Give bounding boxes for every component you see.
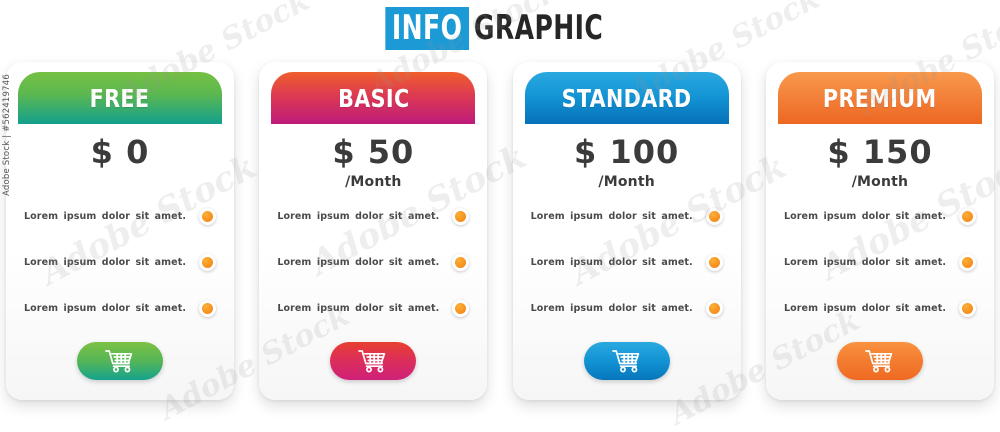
bullet-dot-icon bbox=[706, 300, 723, 317]
pricing-cards-row: FREE $ 0 /Month Lorem ipsum dolor sit am… bbox=[0, 62, 1000, 407]
feature-text: Lorem ipsum dolor sit amet. bbox=[531, 303, 693, 314]
price-block: $ 150 /Month bbox=[766, 136, 994, 190]
list-item: Lorem ipsum dolor sit amet. bbox=[24, 204, 216, 228]
feature-text: Lorem ipsum dolor sit amet. bbox=[784, 303, 946, 314]
feature-text: Lorem ipsum dolor sit amet. bbox=[784, 257, 946, 268]
plan-period: /Month bbox=[513, 174, 741, 190]
feature-list: Lorem ipsum dolor sit amet. Lorem ipsum … bbox=[259, 204, 487, 342]
plan-name: FREE bbox=[90, 84, 150, 113]
plan-price: $ 0 bbox=[6, 136, 234, 170]
bullet-dot-icon bbox=[199, 254, 216, 271]
list-item: Lorem ipsum dolor sit amet. bbox=[531, 204, 723, 228]
bullet-dot-icon bbox=[706, 208, 723, 225]
title-info-badge: INFO bbox=[386, 7, 470, 50]
bullet-dot-icon bbox=[199, 300, 216, 317]
list-item: Lorem ipsum dolor sit amet. bbox=[784, 204, 976, 228]
pricing-card-premium[interactable]: PREMIUM $ 150 /Month Lorem ipsum dolor s… bbox=[766, 62, 994, 400]
price-block: $ 50 /Month bbox=[259, 136, 487, 190]
card-header-basic: BASIC bbox=[271, 72, 475, 124]
title-graphic-text: GRAPHIC bbox=[469, 11, 603, 45]
shopping-cart-icon bbox=[356, 348, 390, 374]
plan-name: BASIC bbox=[338, 84, 409, 113]
list-item: Lorem ipsum dolor sit amet. bbox=[531, 250, 723, 274]
list-item: Lorem ipsum dolor sit amet. bbox=[784, 296, 976, 320]
price-block: $ 100 /Month bbox=[513, 136, 741, 190]
feature-text: Lorem ipsum dolor sit amet. bbox=[24, 303, 186, 314]
bullet-dot-icon bbox=[452, 208, 469, 225]
feature-list: Lorem ipsum dolor sit amet. Lorem ipsum … bbox=[766, 204, 994, 342]
feature-list: Lorem ipsum dolor sit amet. Lorem ipsum … bbox=[513, 204, 741, 342]
title-text: INFO GRAPHIC bbox=[367, 7, 633, 50]
pricing-card-standard[interactable]: STANDARD $ 100 /Month Lorem ipsum dolor … bbox=[513, 62, 741, 400]
cta-wrap bbox=[259, 342, 487, 400]
plan-price: $ 150 bbox=[766, 136, 994, 170]
page-title: INFO GRAPHIC bbox=[0, 0, 1000, 56]
list-item: Lorem ipsum dolor sit amet. bbox=[531, 296, 723, 320]
bullet-dot-icon bbox=[959, 208, 976, 225]
list-item: Lorem ipsum dolor sit amet. bbox=[277, 204, 469, 228]
list-item: Lorem ipsum dolor sit amet. bbox=[24, 296, 216, 320]
plan-name: STANDARD bbox=[562, 84, 692, 113]
price-block: $ 0 /Month bbox=[6, 136, 234, 190]
buy-button-standard[interactable] bbox=[584, 342, 670, 380]
bullet-dot-icon bbox=[452, 254, 469, 271]
bullet-dot-icon bbox=[199, 208, 216, 225]
feature-text: Lorem ipsum dolor sit amet. bbox=[277, 257, 439, 268]
cta-wrap bbox=[6, 342, 234, 400]
list-item: Lorem ipsum dolor sit amet. bbox=[277, 250, 469, 274]
bullet-dot-icon bbox=[452, 300, 469, 317]
plan-period: /Month bbox=[766, 174, 994, 190]
feature-text: Lorem ipsum dolor sit amet. bbox=[277, 211, 439, 222]
list-item: Lorem ipsum dolor sit amet. bbox=[784, 250, 976, 274]
shopping-cart-icon bbox=[610, 348, 644, 374]
feature-text: Lorem ipsum dolor sit amet. bbox=[24, 257, 186, 268]
card-header-free: FREE bbox=[18, 72, 222, 124]
cta-wrap bbox=[513, 342, 741, 400]
cta-wrap bbox=[766, 342, 994, 400]
plan-name: PREMIUM bbox=[823, 84, 937, 113]
feature-text: Lorem ipsum dolor sit amet. bbox=[277, 303, 439, 314]
card-header-standard: STANDARD bbox=[525, 72, 729, 124]
feature-text: Lorem ipsum dolor sit amet. bbox=[24, 211, 186, 222]
card-header-premium: PREMIUM bbox=[778, 72, 982, 124]
plan-price: $ 50 bbox=[259, 136, 487, 170]
plan-period: /Month bbox=[259, 174, 487, 190]
shopping-cart-icon bbox=[103, 348, 137, 374]
feature-text: Lorem ipsum dolor sit amet. bbox=[531, 257, 693, 268]
plan-price: $ 100 bbox=[513, 136, 741, 170]
buy-button-free[interactable] bbox=[77, 342, 163, 380]
feature-list: Lorem ipsum dolor sit amet. Lorem ipsum … bbox=[6, 204, 234, 342]
list-item: Lorem ipsum dolor sit amet. bbox=[277, 296, 469, 320]
bullet-dot-icon bbox=[706, 254, 723, 271]
shopping-cart-icon bbox=[863, 348, 897, 374]
feature-text: Lorem ipsum dolor sit amet. bbox=[531, 211, 693, 222]
bullet-dot-icon bbox=[959, 300, 976, 317]
buy-button-basic[interactable] bbox=[330, 342, 416, 380]
pricing-card-free[interactable]: FREE $ 0 /Month Lorem ipsum dolor sit am… bbox=[6, 62, 234, 400]
buy-button-premium[interactable] bbox=[837, 342, 923, 380]
bullet-dot-icon bbox=[959, 254, 976, 271]
list-item: Lorem ipsum dolor sit amet. bbox=[24, 250, 216, 274]
pricing-card-basic[interactable]: BASIC $ 50 /Month Lorem ipsum dolor sit … bbox=[259, 62, 487, 400]
feature-text: Lorem ipsum dolor sit amet. bbox=[784, 211, 946, 222]
